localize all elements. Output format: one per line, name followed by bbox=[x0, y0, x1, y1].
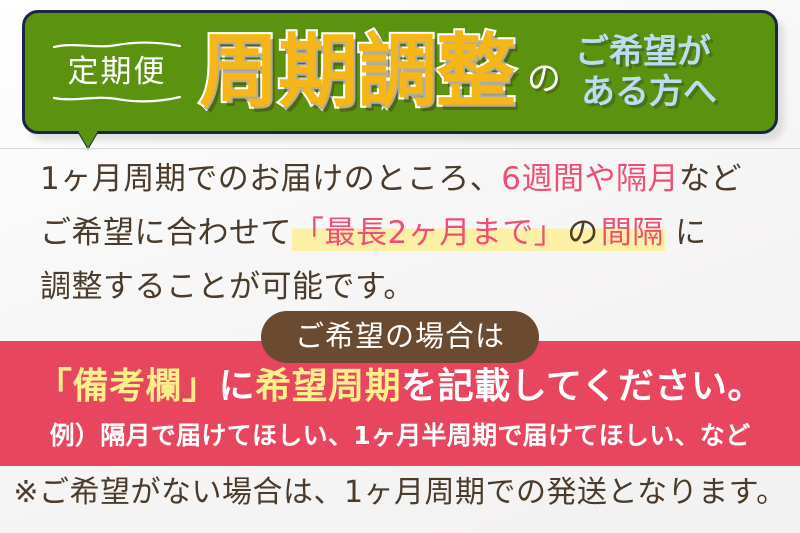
header-banner: 定期便 周期調整 の ご希望が ある方へ bbox=[22, 10, 778, 134]
description-paragraph: 1ヶ月周期でのお届けのところ、6週間や隔月など ご希望に合わせて「最長2ヶ月まで… bbox=[40, 152, 780, 314]
wavy-line-bottom-icon bbox=[53, 94, 181, 103]
description-line-2-quote: 「最長2ヶ月まで」 bbox=[292, 215, 566, 251]
instruction-headline-particle: に bbox=[219, 366, 256, 407]
status-badge: ご希望の場合は bbox=[261, 311, 539, 363]
subscription-tag-label: 定期便 bbox=[68, 50, 167, 94]
instruction-examples: 例）隔月で届けてほしい、1ヶ月半周期で届けてほしい、など bbox=[0, 423, 800, 448]
wish-subtitle: ご希望が ある方へ bbox=[575, 32, 717, 112]
instruction-headline: 「備考欄」に希望周期を記載してください。 bbox=[0, 369, 800, 405]
description-line-2-interval: 間隔 bbox=[600, 215, 665, 251]
footnote-text: ※ご希望がない場合は、1ヶ月周期での発送となります。 bbox=[0, 475, 800, 511]
description-line-3: 調整することが可能です。 bbox=[40, 260, 780, 314]
description-line-1-highlight: 6週間や隔月 bbox=[501, 161, 679, 197]
description-line-1-part-a: 1ヶ月周期でのお届けのところ、 bbox=[40, 161, 501, 197]
speech-bubble-tail-icon bbox=[77, 129, 99, 148]
description-line-2-particle: の bbox=[566, 215, 600, 251]
instruction-headline-tail: を記載してください。 bbox=[401, 366, 764, 407]
wavy-line-top-icon bbox=[53, 41, 181, 50]
wish-subtitle-line-1: ご希望が bbox=[575, 32, 711, 72]
description-line-2-part-e: に bbox=[665, 215, 707, 251]
description-line-2-part-a: ご希望に合わせて bbox=[40, 215, 292, 251]
promo-banner: { "header": { "tag_label": "定期便", "title… bbox=[0, 0, 800, 533]
description-line-1: 1ヶ月周期でのお届けのところ、6週間や隔月など bbox=[40, 152, 780, 206]
instruction-headline-field: 「備考欄」 bbox=[36, 366, 219, 407]
banner-title: 周期調整 bbox=[199, 32, 515, 112]
description-line-2: ご希望に合わせて「最長2ヶ月まで」の間隔 に bbox=[40, 206, 780, 260]
banner-title-particle: の bbox=[527, 62, 561, 96]
header-bubble: 定期便 周期調整 の ご希望が ある方へ bbox=[22, 10, 778, 134]
description-line-1-part-c: など bbox=[679, 161, 742, 197]
wish-subtitle-line-2: ある方へ bbox=[575, 72, 717, 112]
header-divider bbox=[0, 148, 800, 149]
subscription-tag: 定期便 bbox=[51, 35, 183, 109]
instruction-headline-cycle: 希望周期 bbox=[255, 366, 401, 407]
